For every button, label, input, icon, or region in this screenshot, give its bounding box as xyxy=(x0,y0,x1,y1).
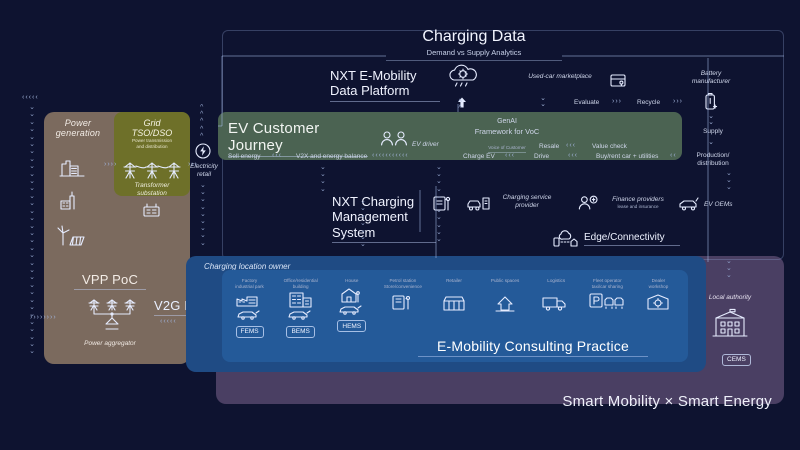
diagram-canvas: Smart Mobility × Smart Energy Charging D… xyxy=(0,0,800,450)
connector-lines xyxy=(0,0,800,450)
